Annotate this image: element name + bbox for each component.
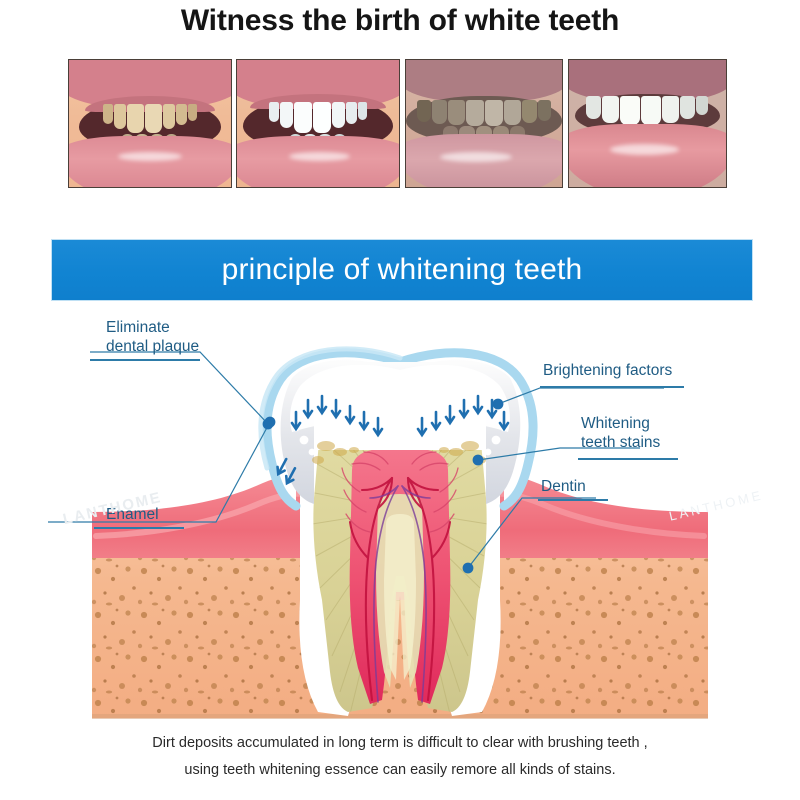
photo-before-stained-teeth: [405, 59, 563, 188]
before-after-photo-strip: [0, 59, 800, 190]
photo-before-yellow-teeth: [68, 59, 232, 188]
callout-underline-enamel: [94, 527, 184, 529]
photo-after-white-teeth: [236, 59, 400, 188]
callout-whitening-teeth-stains: Whitening teeth stains: [581, 414, 660, 452]
page-title: Witness the birth of white teeth: [0, 4, 800, 38]
callout-underline-whitening-teeth-stains: [578, 458, 678, 460]
bottom-caption: Dirt deposits accumulated in long term i…: [0, 730, 800, 784]
caption-line-2: using teeth whitening essence can easily…: [0, 757, 800, 784]
callout-dentin: Dentin: [541, 477, 586, 496]
callout-brightening-factors: Brightening factors: [543, 361, 672, 380]
callout-underline-brightening-factors: [540, 386, 684, 388]
callout-eliminate-dental-plaque: Eliminate dental plaque: [106, 318, 199, 356]
banner-title: principle of whitening teeth: [52, 240, 752, 300]
callout-underline-eliminate-dental-plaque: [90, 359, 200, 361]
caption-line-1: Dirt deposits accumulated in long term i…: [0, 730, 800, 757]
callout-enamel: Enamel: [106, 505, 159, 524]
photo-after-clean-teeth: [568, 59, 727, 188]
callout-underline-dentin: [538, 499, 608, 501]
product-infographic-page: Witness the birth of white teeth: [0, 0, 800, 800]
section-banner: principle of whitening teeth: [52, 240, 752, 300]
